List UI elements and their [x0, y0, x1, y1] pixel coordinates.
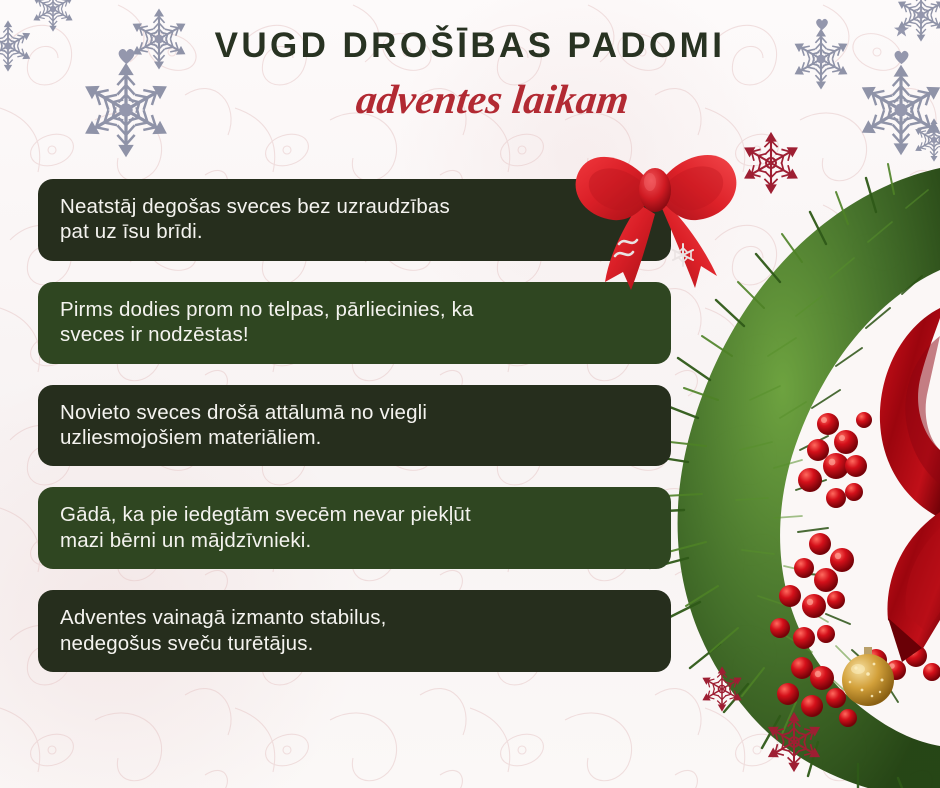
tip-line: Neatstāj degošas sveces bez uzraudzības	[60, 194, 651, 219]
tip-line: Gādā, ka pie iedegtām svecēm nevar piekļ…	[60, 502, 651, 527]
tip-line: pat uz īsu brīdi.	[60, 219, 651, 244]
tip-line: mazi bērni un mājdzīvnieki.	[60, 528, 651, 553]
red-snowflake-upper-right	[738, 130, 804, 196]
tip-box-5[interactable]: Adventes vainagā izmanto stabilus, nedeg…	[38, 590, 671, 672]
tip-line: uzliesmojošiem materiāliem.	[60, 425, 651, 450]
tip-box-3[interactable]: Novieto sveces drošā attālumā no viegli …	[38, 385, 671, 467]
tip-box-4[interactable]: Gādā, ka pie iedegtām svecēm nevar piekļ…	[38, 487, 671, 569]
poster-canvas: VUGD DROŠĪBAS PADOMI adventes laikam	[0, 0, 940, 788]
red-ribbon-bow	[565, 132, 745, 297]
tip-line: Novieto sveces drošā attālumā no viegli	[60, 400, 651, 425]
tip-line: Pirms dodies prom no telpas, pārliecinie…	[60, 297, 651, 322]
subtitle-text: adventes laikam	[354, 76, 632, 122]
page-title: VUGD DROŠĪBAS PADOMI	[0, 26, 940, 66]
tip-line: nedegošus sveču turētājus.	[60, 631, 651, 656]
page-subtitle: adventes laikam	[260, 72, 680, 128]
red-snowflake-lower-mid	[762, 710, 826, 774]
tip-line: sveces ir nodzēstas!	[60, 322, 651, 347]
tip-line: Adventes vainagā izmanto stabilus,	[60, 605, 651, 630]
poster-heading: VUGD DROŠĪBAS PADOMI adventes laikam	[0, 26, 940, 128]
red-snowflake-lower-left	[698, 665, 746, 713]
